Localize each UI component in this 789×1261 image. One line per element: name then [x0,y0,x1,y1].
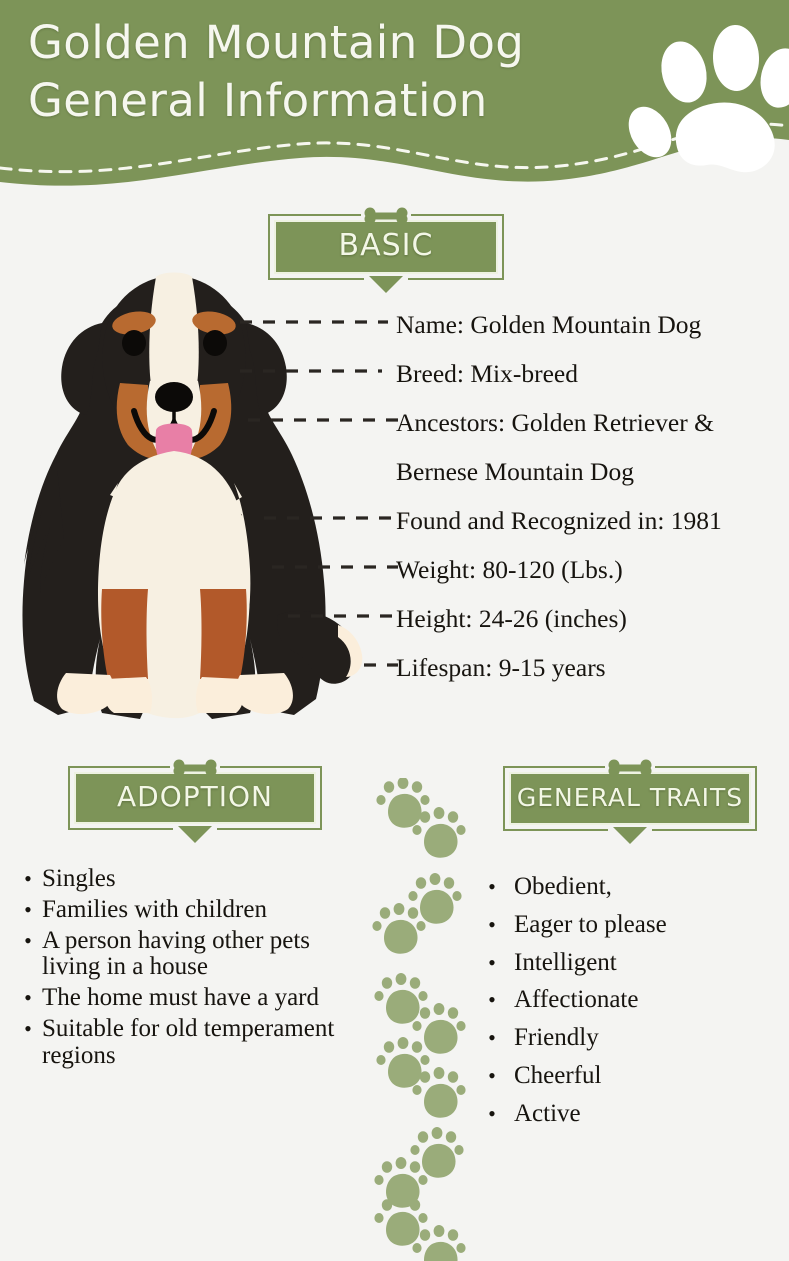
list-item: • Intelligent [470,950,770,977]
list-item: • Friendly [470,1025,770,1052]
fact-ancestors: Ancestors: Golden Retriever & Bernese Mo… [396,398,789,496]
fact-name: Name: Golden Mountain Dog [396,300,789,349]
list-item: • Families with children [14,897,374,924]
fact-value: Golden Mountain Dog [470,312,701,338]
bullet-icon: • [14,1016,42,1070]
bone-icon [607,759,653,777]
bullet-icon: • [470,950,514,977]
bone-icon [172,759,218,777]
list-item-label: Families with children [42,897,374,924]
section-banner-adoption: ADOPTION [68,766,322,830]
bullet-icon: • [14,866,42,893]
banner-label-general-traits: GENERAL TRAITS [509,772,751,825]
general-traits-list: • Obedient, • Eager to please • Intellig… [470,874,770,1138]
list-item-label: Intelligent [514,950,770,977]
fact-value: Golden Retriever & [511,410,714,436]
list-item: • Active [470,1101,770,1128]
fact-value: 9-15 years [499,655,606,681]
banner-notch [369,276,403,293]
list-item-label: Friendly [514,1025,770,1052]
bullet-icon: • [470,874,514,901]
page-title-line2: General Information [28,72,524,130]
list-item-label: The home must have a yard [42,985,374,1012]
adoption-list: • Singles • Families with children • A p… [14,866,374,1073]
fact-height: Height: 24-26 (inches) [396,594,789,643]
list-item: • Eager to please [470,912,770,939]
list-item: • Singles [14,866,374,893]
list-item-label: Active [514,1101,770,1128]
list-item-label: Singles [42,866,374,893]
banner-label-basic: BASIC [274,220,498,274]
list-item-label: Affectionate [514,987,770,1014]
bullet-icon: • [14,928,42,982]
fact-value: Mix-breed [470,361,578,387]
bullet-icon: • [14,985,42,1012]
fact-label: Height: [396,606,473,632]
bullet-icon: • [14,897,42,924]
list-item: • Obedient, [470,874,770,901]
bullet-icon: • [470,1063,514,1090]
fact-label: Weight: [396,557,476,583]
bullet-icon: • [470,1101,514,1128]
header-banner: Golden Mountain Dog General Information [0,0,789,200]
list-item-label: A person having other pets living in a h… [42,928,374,982]
fact-lifespan: Lifespan: 9-15 years [396,643,789,692]
bullet-icon: • [470,912,514,939]
list-item-label: Obedient, [514,874,770,901]
basic-facts-list: Name: Golden Mountain Dog Breed: Mix-bre… [396,300,789,692]
fact-value-line2: Bernese Mountain Dog [396,459,634,485]
list-item: • Suitable for old temperament regions [14,1016,374,1070]
fact-label: Breed: [396,361,464,387]
fact-breed: Breed: Mix-breed [396,349,789,398]
bullet-icon: • [470,987,514,1014]
bullet-icon: • [470,1025,514,1052]
list-item-label: Eager to please [514,912,770,939]
fact-label: Ancestors: [396,410,505,436]
banner-label-adoption: ADOPTION [74,772,316,824]
bone-icon [363,207,409,225]
page-title: Golden Mountain Dog General Information [28,14,524,129]
list-item: • The home must have a yard [14,985,374,1012]
list-item-label: Cheerful [514,1063,770,1090]
fact-label: Found and Recognized in: [396,508,664,534]
list-item: • Affectionate [470,987,770,1014]
fact-label: Lifespan: [396,655,492,681]
fact-value: 24-26 (inches) [479,606,627,632]
banner-notch [178,826,212,843]
fact-value: 80-120 (Lbs.) [482,557,622,583]
page-title-line1: Golden Mountain Dog [28,14,524,72]
banner-notch [613,827,647,844]
list-item: • A person having other pets living in a… [14,928,374,982]
fact-found-recognized: Found and Recognized in: 1981 [396,496,789,545]
leader-lines [240,300,410,680]
list-item-label: Suitable for old temperament regions [42,1016,374,1070]
fact-weight: Weight: 80-120 (Lbs.) [396,545,789,594]
section-banner-basic: BASIC [268,214,504,280]
section-banner-general-traits: GENERAL TRAITS [503,766,757,831]
fact-label: Name: [396,312,464,338]
fact-value: 1981 [671,508,722,534]
paw-print-trail-icon [372,778,472,1261]
list-item: • Cheerful [470,1063,770,1090]
